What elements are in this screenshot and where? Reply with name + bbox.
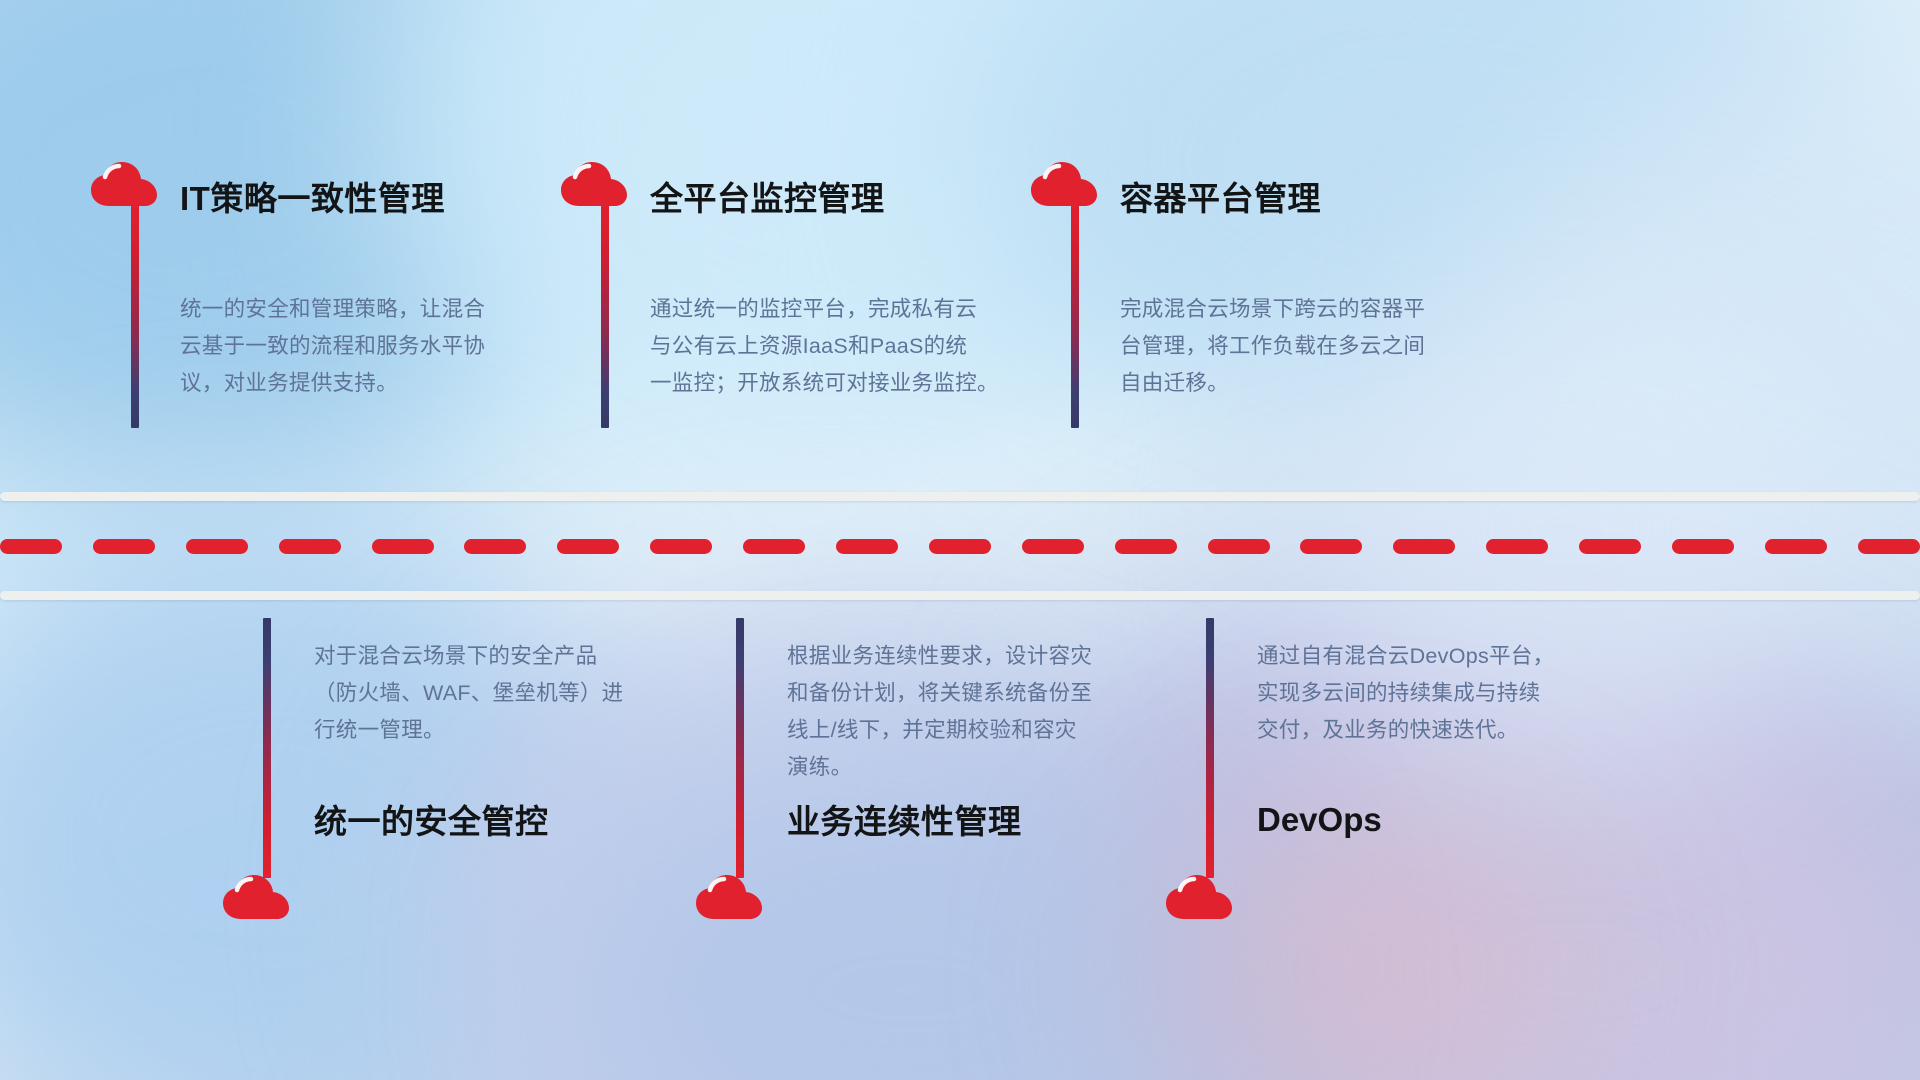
- cloud-icon: [1163, 873, 1235, 926]
- cloud-icon: [220, 873, 292, 926]
- road-dash: [186, 539, 248, 554]
- road-dash: [464, 539, 526, 554]
- top-item-2-description: 通过统一的监控平台，完成私有云 与公有云上资源IaaS和PaaS的统 一监控；开…: [650, 291, 1060, 402]
- bottom-item-3-title: DevOps: [1257, 803, 1382, 836]
- road-dash: [1858, 539, 1920, 554]
- bottom-item-2-stem: [736, 618, 744, 878]
- road-dash: [1022, 539, 1084, 554]
- road-dash: [0, 539, 62, 554]
- road-dash: [279, 539, 341, 554]
- bottom-item-1-stem: [263, 618, 271, 878]
- road-dash: [1579, 539, 1641, 554]
- infographic-canvas: IT策略一致性管理 统一的安全和管理策略，让混合 云基于一致的流程和服务水平协 …: [0, 0, 1920, 1080]
- road-dash-line: [0, 538, 1920, 554]
- top-item-2-title: 全平台监控管理: [650, 182, 885, 215]
- road-divider: [0, 492, 1920, 600]
- road-dash: [650, 539, 712, 554]
- road-edge-top: [0, 492, 1920, 501]
- background-blob: [0, 0, 580, 500]
- road-dash: [1765, 539, 1827, 554]
- cloud-icon: [558, 160, 630, 213]
- background-blob: [1230, 700, 1920, 1080]
- top-item-1-stem: [131, 203, 139, 428]
- bottom-item-1-title: 统一的安全管控: [314, 805, 549, 838]
- road-dash: [743, 539, 805, 554]
- road-dash: [836, 539, 898, 554]
- background-blob: [980, 0, 1880, 480]
- bottom-item-1-description: 对于混合云场景下的安全产品 （防火墙、WAF、堡垒机等）进 行统一管理。: [314, 638, 714, 749]
- top-item-2-stem: [601, 203, 609, 428]
- road-edge-bottom: [0, 591, 1920, 600]
- top-item-1-title: IT策略一致性管理: [180, 182, 445, 215]
- bottom-item-2-description: 根据业务连续性要求，设计容灾 和备份计划，将关键系统备份至 线上/线下，并定期校…: [787, 638, 1197, 786]
- top-item-3-description: 完成混合云场景下跨云的容器平 台管理，将工作负载在多云之间 自由迁移。: [1120, 291, 1520, 402]
- bottom-item-3-stem: [1206, 618, 1214, 878]
- cloud-icon: [1028, 160, 1100, 213]
- top-item-1-description: 统一的安全和管理策略，让混合 云基于一致的流程和服务水平协 议，对业务提供支持。: [180, 291, 580, 402]
- road-dash: [1393, 539, 1455, 554]
- road-dash: [1208, 539, 1270, 554]
- road-dash: [1300, 539, 1362, 554]
- road-dash: [1115, 539, 1177, 554]
- road-dash: [929, 539, 991, 554]
- top-item-3-stem: [1071, 203, 1079, 428]
- top-item-3-title: 容器平台管理: [1120, 182, 1321, 215]
- cloud-icon: [693, 873, 765, 926]
- road-dash: [1486, 539, 1548, 554]
- bottom-item-3-description: 通过自有混合云DevOps平台， 实现多云间的持续集成与持续 交付，及业务的快速…: [1257, 638, 1657, 749]
- cloud-icon: [88, 160, 160, 213]
- road-dash: [557, 539, 619, 554]
- road-dash: [372, 539, 434, 554]
- road-dash: [1672, 539, 1734, 554]
- road-dash: [93, 539, 155, 554]
- bottom-item-2-title: 业务连续性管理: [787, 805, 1022, 838]
- background-blob: [380, 0, 1280, 480]
- background-blob: [0, 520, 660, 1080]
- background-blob: [1500, 40, 1920, 740]
- background-blob: [1120, 820, 1580, 1080]
